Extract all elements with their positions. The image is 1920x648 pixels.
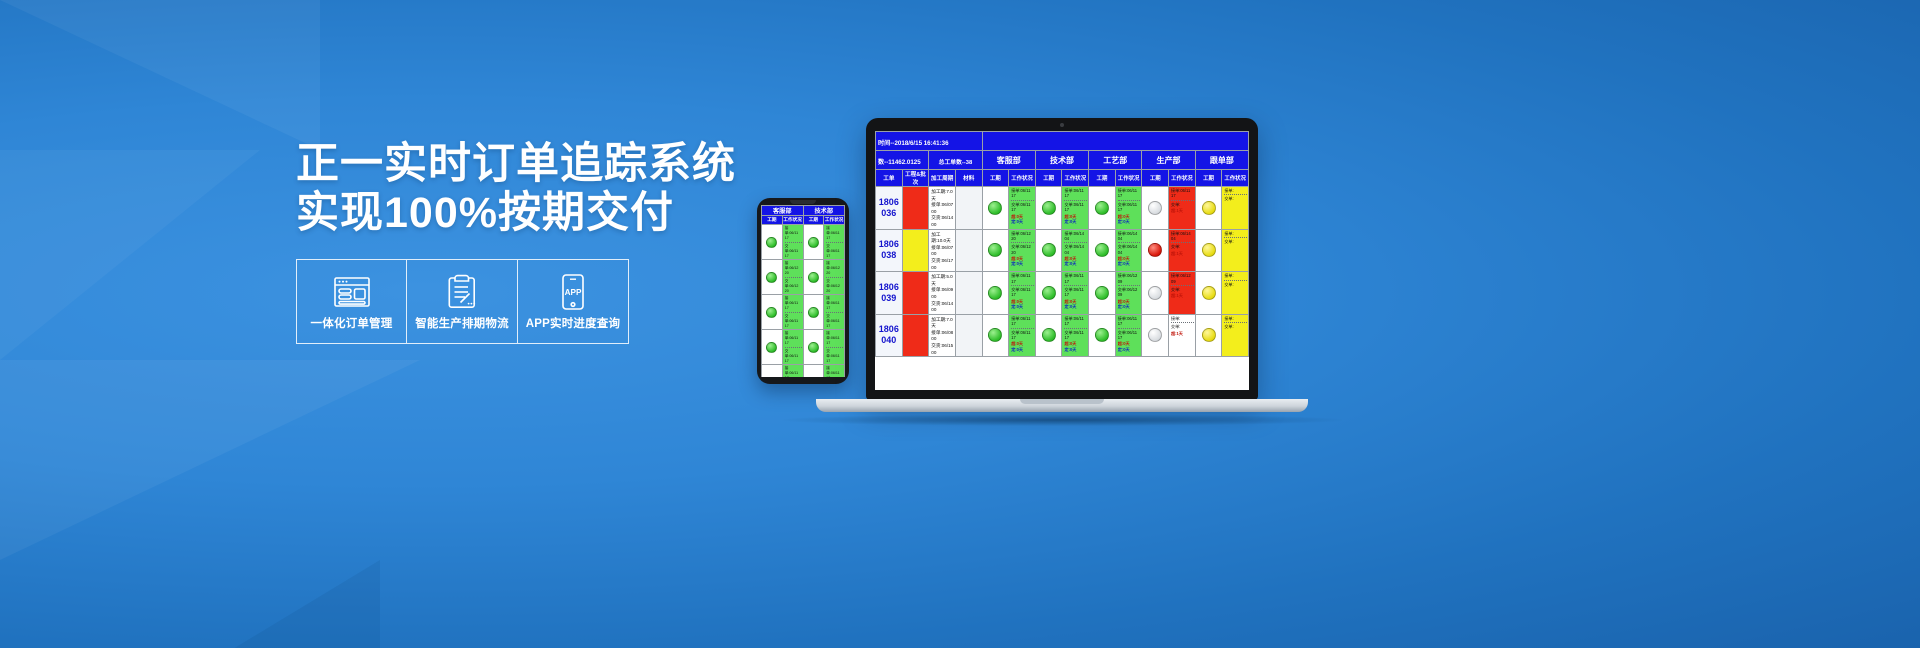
phone-lamp-cell-left[interactable]: [762, 225, 783, 260]
status-line-deliver: 交单:06/14 04: [1064, 244, 1087, 255]
phone-status-cell-right[interactable]: 接单:06/11 17交单:06/11 17: [824, 295, 845, 330]
status-line-deliver: 交单:06/11 17: [1064, 330, 1087, 341]
status-cell-跟单部[interactable]: 接单:交单:: [1222, 314, 1249, 357]
status-lamp-green: [988, 201, 1002, 215]
status-lines: 接单:06/11 17交单:06/11 17: [1116, 187, 1142, 213]
work-order-number: 1806040: [876, 314, 903, 357]
status-cell-生产部[interactable]: 接单:06/14 04交单:超:1天: [1169, 229, 1196, 272]
feature-label: 智能生产排期物流: [415, 315, 509, 331]
info-spacer: [982, 132, 1248, 151]
info-row-2: 数--11462.0125 总工单数--38 客服部 技术部 工艺部 生产部 跟…: [876, 151, 1249, 170]
lamp-cell-跟单部[interactable]: [1195, 187, 1222, 230]
lamp-cell-工艺部[interactable]: [1089, 314, 1116, 357]
status-tag-set: 定:0天: [1118, 304, 1140, 309]
dept-header-gongyi: 工艺部: [1089, 151, 1142, 170]
phone-status-line-receive: 接单:06/11 17: [826, 331, 843, 346]
lamp-cell-生产部[interactable]: [1142, 314, 1169, 357]
phone-status-lamp-green: [766, 307, 777, 318]
status-line-deliver: 交单:06/11 17: [1011, 287, 1034, 298]
lamp-cell-跟单部[interactable]: [1195, 272, 1222, 315]
lamp-cell-技术部[interactable]: [1035, 272, 1062, 315]
status-cell-工艺部[interactable]: 接单:06/11 17交单:06/11 17超:0天定:0天: [1115, 187, 1142, 230]
status-lamp-green: [1042, 286, 1056, 300]
phone-status-lines: 接单:06/12 20交单:06/12 20: [783, 260, 803, 294]
status-lamp-yellow: [1202, 243, 1216, 257]
phone-status-line-receive: 接单:06/12 20: [826, 261, 843, 276]
col-header-客服部-工期: 工期: [982, 170, 1009, 187]
bg-facet: [0, 360, 420, 560]
lamp-cell-工艺部[interactable]: [1089, 187, 1116, 230]
status-line-receive: 接单:: [1171, 316, 1194, 321]
col-header-技术部-工作状况: 工作状况: [1062, 170, 1089, 187]
lamp-cell-工艺部[interactable]: [1089, 272, 1116, 315]
phone-status-cell-right[interactable]: 接单:06/12 20交单:06/12 20: [824, 260, 845, 295]
col-header-3: 材料: [955, 170, 982, 187]
table-body[interactable]: 1806036 加工期:7.0天接单:06/07 00交货:06/14 00接单…: [876, 187, 1249, 357]
lamp-cell-技术部[interactable]: [1035, 187, 1062, 230]
status-line-deliver: 交单:06/11 17: [1064, 202, 1087, 213]
cycle-line-1: 接单:06/07 00: [931, 245, 955, 258]
phone-status-lamp-green: [808, 307, 819, 318]
wo-suffix: 038: [876, 250, 902, 261]
status-cell-客服部[interactable]: 接单:06/11 17交单:06/11 17超:0天定:0天: [1009, 314, 1036, 357]
table-row[interactable]: 1806038 加工期:10.0天接单:06/07 00交货:06/17 00接…: [876, 229, 1249, 272]
feature-item-app-tracking[interactable]: APP APP实时进度查询: [518, 259, 629, 344]
status-cell-客服部[interactable]: 接单:06/12 20交单:06/12 20超:0天定:0天: [1009, 229, 1036, 272]
status-cell-生产部[interactable]: 接单:06/11 17交单:超:1天: [1169, 187, 1196, 230]
status-lamp-white: [1148, 286, 1162, 300]
status-lines: 接单:06/11 17交单:06/11 17: [1116, 315, 1142, 341]
phone-status-lamp-green: [766, 342, 777, 353]
phone-screen[interactable]: 客服部 技术部 工期 工作状况 工期 工作状况 接单:06/11 17交单:06…: [761, 205, 845, 377]
order-tracking-table[interactable]: 时间--2018/6/15 16:41:36 数--11462.0125 总工单…: [875, 131, 1249, 357]
phone-status-cell-left[interactable]: 接单:06/11 17交单:06/11 17: [782, 225, 803, 260]
phone-table-row[interactable]: 接单:06/12 20交单:06/12 20接单:06/12 20交单:06/1…: [762, 260, 845, 295]
phone-dept-header: 技术部: [803, 206, 845, 216]
cycle-line-2: 交货:06/14 00: [931, 215, 955, 228]
feature-label: APP实时进度查询: [526, 315, 620, 331]
status-lines: 接单:06/11 17交单:06/11 17: [1062, 315, 1088, 341]
phone-status-lamp-green: [766, 237, 777, 248]
status-lines: 接单:06/11 17交单:: [1169, 187, 1195, 207]
banner-stage: 正一实时订单追踪系统 实现100%按期交付 一体化订单管理: [0, 0, 1920, 648]
status-tag-over: 超:1天: [1171, 293, 1193, 298]
phone-status-lamp-green: [808, 237, 819, 248]
status-lines: 接单:06/11 17交单:06/11 17: [1009, 187, 1035, 213]
status-line-receive: 接单:: [1224, 316, 1247, 321]
cycle-line-2: 交货:06/14 00: [931, 301, 955, 314]
status-tags: [1222, 244, 1248, 246]
status-tags: 超:1天: [1169, 207, 1195, 214]
wo-prefix: 1806: [876, 324, 902, 335]
phone-col-header: 工期: [803, 216, 824, 225]
table-head: 时间--2018/6/15 16:41:36 数--11462.0125 总工单…: [876, 132, 1249, 187]
phone-status-lines: 接单:06/11 17交单:06/11 17: [783, 225, 803, 259]
status-tag-set: 定:0天: [1064, 219, 1086, 224]
status-cell-生产部[interactable]: 接单:交单:超:1天: [1169, 314, 1196, 357]
feature-item-production-schedule[interactable]: 智能生产排期物流: [407, 259, 518, 344]
status-tags: 超:0天定:0天: [1009, 298, 1035, 310]
status-line-receive: 接单:06/11 17: [1064, 273, 1087, 284]
status-cell-客服部[interactable]: 接单:06/11 17交单:06/11 17超:0天定:0天: [1009, 272, 1036, 315]
feature-item-order-management[interactable]: 一体化订单管理: [296, 259, 407, 344]
status-lines: 接单:06/14 04交单:06/14 04: [1116, 230, 1142, 256]
phone-lamp-cell-left[interactable]: [762, 260, 783, 295]
status-tag-over: 超:1天: [1171, 331, 1193, 336]
status-tags: [1222, 202, 1248, 204]
status-line-deliver: 交单:06/12 09: [1118, 287, 1141, 298]
status-lines: 接单:06/12 20交单:06/12 20: [1009, 230, 1035, 256]
phone-col-header: 工期: [762, 216, 783, 225]
status-tag-set: 定:0天: [1064, 304, 1086, 309]
phone-status-lines: 接单:06/11 17交单:06/11 17: [783, 365, 803, 377]
status-lines: 接单:交单:: [1169, 315, 1195, 330]
phone-table-row[interactable]: 接单:06/11 17交单:06/11 17接单:06/11 17交单:06/1…: [762, 365, 845, 378]
status-line-deliver: 交单:06/11 17: [1064, 287, 1087, 298]
laptop-base: [816, 399, 1308, 412]
wo-prefix: 1806: [876, 282, 902, 293]
processing-cycle-cell: 加工期:7.0天接单:06/07 00交货:06/14 00: [929, 187, 956, 230]
status-tags: [1222, 287, 1248, 289]
status-lines: 接单:交单:: [1222, 272, 1248, 287]
status-lines: 接单:交单:: [1222, 187, 1248, 202]
phone-table-row[interactable]: 接单:06/11 17交单:06/11 17接单:06/11 17交单:06/1…: [762, 295, 845, 330]
phone-status-line-receive: 接单:06/11 17: [826, 366, 843, 377]
status-line-receive: 接单:: [1224, 231, 1247, 236]
status-lines: 接单:06/14 04交单:06/14 04: [1062, 230, 1088, 256]
phone-status-cell-left[interactable]: 接单:06/11 17交单:06/11 17: [782, 365, 803, 378]
wo-prefix: 1806: [876, 197, 902, 208]
status-cell-技术部[interactable]: 接单:06/11 17交单:06/11 17超:0天定:0天: [1062, 272, 1089, 315]
phone-status-line-deliver: 交单:06/11 17: [785, 244, 802, 259]
phone-status-line-deliver: 交单:06/11 17: [826, 244, 843, 259]
phone-status-cell-left[interactable]: 接单:06/11 17交单:06/11 17: [782, 330, 803, 365]
hero-copy: 正一实时订单追踪系统 实现100%按期交付: [296, 140, 716, 238]
phone-status-cell-left[interactable]: 接单:06/11 17交单:06/11 17: [782, 295, 803, 330]
status-cell-跟单部[interactable]: 接单:交单:: [1222, 272, 1249, 315]
status-line-receive: 接单:06/11 17: [1118, 188, 1141, 199]
wo-prefix: 1806: [876, 239, 902, 250]
phone-status-line-receive: 接单:06/11 17: [785, 331, 802, 346]
phone-status-lines: 接单:06/11 17交单:06/11 17: [824, 225, 844, 259]
lamp-cell-客服部[interactable]: [982, 272, 1009, 315]
phone-status-lines: 接单:06/11 17交单:06/11 17: [824, 365, 844, 377]
phone-lamp-cell-right[interactable]: [803, 330, 824, 365]
status-tag-over: 超:1天: [1171, 251, 1193, 256]
phone-order-table[interactable]: 客服部 技术部 工期 工作状况 工期 工作状况 接单:06/11 17交单:06…: [761, 205, 845, 377]
phone-status-cell-right[interactable]: 接单:06/11 17交单:06/11 17: [824, 365, 845, 378]
phone-col-header: 工作状况: [782, 216, 803, 225]
status-line-receive: 接单:06/11 17: [1064, 316, 1087, 327]
status-lamp-yellow: [1202, 201, 1216, 215]
phone-table-row[interactable]: 接单:06/11 17交单:06/11 17接单:06/11 17交单:06/1…: [762, 225, 845, 260]
status-tags: 超:0天定:0天: [1062, 340, 1088, 352]
phone-status-line-deliver: 交单:06/11 17: [826, 349, 843, 364]
status-cell-客服部[interactable]: 接单:06/11 17交单:06/11 17超:0天定:0天: [1009, 187, 1036, 230]
dept-header-shengchan: 生产部: [1142, 151, 1195, 170]
material-cell: [955, 314, 982, 357]
material-cell: [955, 272, 982, 315]
status-cell-工艺部[interactable]: 接单:06/12 09交单:06/12 09超:0天定:0天: [1115, 272, 1142, 315]
status-line-deliver: 交单:06/12 20: [1011, 244, 1034, 255]
phone-status-cell-left[interactable]: 接单:06/12 20交单:06/12 20: [782, 260, 803, 295]
phone-lamp-cell-right[interactable]: [803, 295, 824, 330]
phone-status-lamp-green: [808, 377, 819, 378]
status-tags: 超:0天定:0天: [1116, 298, 1142, 310]
dept-header-kefu: 客服部: [982, 151, 1035, 170]
phone-status-lines: 接单:06/11 17交单:06/11 17: [824, 330, 844, 364]
phone-dept-row: 客服部 技术部: [762, 206, 845, 216]
phone-column-row: 工期 工作状况 工期 工作状况: [762, 216, 845, 225]
phone-lamp-cell-left[interactable]: [762, 330, 783, 365]
status-lines: 接单:06/12 09交单:: [1169, 272, 1195, 292]
status-line-deliver: 交单:06/11 17: [1118, 202, 1141, 213]
feature-label: 一体化订单管理: [311, 315, 393, 331]
col-header-2: 加工周期: [929, 170, 956, 187]
status-tags: 超:0天定:0天: [1116, 213, 1142, 225]
phone-status-lamp-green: [766, 272, 777, 283]
status-lamp-green: [1095, 286, 1109, 300]
laptop-shadow: [782, 414, 1342, 426]
phone-status-line-deliver: 交单:06/11 17: [785, 349, 802, 364]
status-line-receive: 接单:06/14 04: [1171, 231, 1194, 242]
phone-lamp-cell-left[interactable]: [762, 295, 783, 330]
processing-cycle-cell: 加工期:10.0天接单:06/07 00交货:06/17 00: [929, 229, 956, 272]
col-header-工艺部-工作状况: 工作状况: [1115, 170, 1142, 187]
phone-table-head: 客服部 技术部 工期 工作状况 工期 工作状况: [762, 206, 845, 225]
status-line-receive: 接单:06/11 17: [1064, 188, 1087, 199]
phone-lamp-cell-left[interactable]: [762, 365, 783, 378]
status-line-deliver: 交单:06/14 04: [1118, 244, 1141, 255]
table-row[interactable]: 1806039 加工期:5.0天接单:06/09 00交货:06/14 00接单…: [876, 272, 1249, 315]
status-tag-set: 定:0天: [1118, 219, 1140, 224]
status-tags: 超:0天定:0天: [1116, 340, 1142, 352]
phone-status-line-deliver: 交单:06/11 17: [826, 314, 843, 329]
status-tag-set: 定:0天: [1064, 347, 1086, 352]
status-line-receive: 接单:06/11 17: [1118, 316, 1141, 327]
cycle-line-2: 交货:06/15 00: [931, 343, 955, 356]
status-tags: 超:0天定:0天: [1009, 340, 1035, 352]
status-lines: 接单:06/14 04交单:: [1169, 230, 1195, 250]
phone-status-line-deliver: 交单:06/11 17: [785, 314, 802, 329]
col-header-跟单部-工作状况: 工作状况: [1222, 170, 1249, 187]
col-header-工艺部-工期: 工期: [1089, 170, 1116, 187]
lamp-cell-生产部[interactable]: [1142, 187, 1169, 230]
lamp-cell-客服部[interactable]: [982, 187, 1009, 230]
status-lines: 接单:06/12 09交单:06/12 09: [1116, 272, 1142, 298]
phone-status-lines: 接单:06/12 20交单:06/12 20: [824, 260, 844, 294]
info-amount-text: 数--11462.0125: [878, 159, 921, 166]
status-cell-生产部[interactable]: 接单:06/12 09交单:超:1天: [1169, 272, 1196, 315]
cycle-line-0: 加工期:7.0天: [931, 317, 955, 330]
status-tag-over: 超:1天: [1171, 208, 1193, 213]
status-tag-set: 定:0天: [1011, 261, 1033, 266]
table-row[interactable]: 1806040 加工期:7.0天接单:06/08 00交货:06/15 00接单…: [876, 314, 1249, 357]
status-lamp-white: [1148, 328, 1162, 342]
status-lamp-green: [988, 328, 1002, 342]
status-tag-set: 定:0天: [1011, 219, 1033, 224]
phone-mockup: 客服部 技术部 工期 工作状况 工期 工作状况 接单:06/11 17交单:06…: [757, 198, 849, 384]
info-total: 总工单数--38: [929, 151, 982, 170]
col-header-生产部-工作状况: 工作状况: [1169, 170, 1196, 187]
material-cell: [955, 229, 982, 272]
status-tag-set: 定:0天: [1011, 304, 1033, 309]
status-lamp-red: [1148, 243, 1162, 257]
status-cell-技术部[interactable]: 接单:06/11 17交单:06/11 17超:0天定:0天: [1062, 187, 1089, 230]
status-lamp-green: [1042, 328, 1056, 342]
status-line-receive: 接单:06/12 09: [1171, 273, 1194, 284]
status-line-receive: 接单:06/11 17: [1011, 188, 1034, 199]
phone-status-line-deliver: 交单:06/12 20: [826, 279, 843, 294]
laptop-screen[interactable]: 时间--2018/6/15 16:41:36 数--11462.0125 总工单…: [875, 131, 1249, 390]
status-line-deliver: 交单:06/11 17: [1118, 330, 1141, 341]
work-order-number: 1806036: [876, 187, 903, 230]
phone-status-line-receive: 接单:06/11 17: [826, 296, 843, 311]
column-header-row: 工单工程&批次加工周期材料工期工作状况工期工作状况工期工作状况工期工作状况工期工…: [876, 170, 1249, 187]
status-tags: 超:1天: [1169, 330, 1195, 337]
cycle-line-0: 加工期:5.0天: [931, 274, 955, 287]
status-lamp-green: [1095, 201, 1109, 215]
status-lamp-green: [988, 243, 1002, 257]
status-tags: 超:1天: [1169, 250, 1195, 257]
lamp-cell-跟单部[interactable]: [1195, 229, 1222, 272]
status-line-receive: 接单:06/12 20: [1011, 231, 1034, 242]
status-lamp-green: [1095, 328, 1109, 342]
info-time-text: 时间--2018/6/15 16:41:36: [878, 140, 949, 147]
status-lamp-green: [1042, 201, 1056, 215]
project-batch-cell: [902, 272, 929, 315]
phone-lamp-cell-right[interactable]: [803, 260, 824, 295]
status-line-receive: 接单:06/11 17: [1011, 273, 1034, 284]
lamp-cell-技术部[interactable]: [1035, 314, 1062, 357]
phone-dept-header: 客服部: [762, 206, 804, 216]
status-tags: 超:0天定:0天: [1009, 255, 1035, 267]
lamp-cell-客服部[interactable]: [982, 229, 1009, 272]
dept-header-jishu: 技术部: [1035, 151, 1088, 170]
status-line-deliver: 交单:06/11 17: [1011, 202, 1034, 213]
bg-facet: [0, 0, 320, 150]
cycle-line-1: 接单:06/09 00: [931, 287, 955, 300]
lamp-cell-客服部[interactable]: [982, 314, 1009, 357]
work-order-number: 1806039: [876, 272, 903, 315]
status-line-receive: 接单:06/11 17: [1171, 188, 1194, 199]
status-lamp-green: [1095, 243, 1109, 257]
info-row: 时间--2018/6/15 16:41:36: [876, 132, 1249, 151]
status-line-receive: 接单:06/11 17: [1011, 316, 1034, 327]
table-row[interactable]: 1806036 加工期:7.0天接单:06/07 00交货:06/14 00接单…: [876, 187, 1249, 230]
wo-suffix: 039: [876, 293, 902, 304]
status-tag-set: 定:0天: [1118, 261, 1140, 266]
phone-status-line-receive: 接单:06/11 17: [785, 226, 802, 241]
status-lines: 接单:06/11 17交单:06/11 17: [1062, 187, 1088, 213]
status-tags: 超:1天: [1169, 292, 1195, 299]
wo-suffix: 036: [876, 208, 902, 219]
status-cell-工艺部[interactable]: 接单:06/11 17交单:06/11 17超:0天定:0天: [1115, 314, 1142, 357]
phone-status-cell-right[interactable]: 接单:06/11 17交单:06/11 17: [824, 225, 845, 260]
phone-table-row[interactable]: 接单:06/11 17交单:06/11 17接单:06/11 17交单:06/1…: [762, 330, 845, 365]
status-lamp-yellow: [1202, 328, 1216, 342]
status-tag-set: 定:0天: [1118, 347, 1140, 352]
bg-facet: [0, 150, 260, 360]
phone-status-lines: 接单:06/11 17交单:06/11 17: [783, 295, 803, 329]
processing-cycle-cell: 加工期:5.0天接单:06/09 00交货:06/14 00: [929, 272, 956, 315]
status-line-deliver: 交单:06/11 17: [1011, 330, 1034, 341]
cycle-line-1: 接单:06/07 00: [931, 202, 955, 215]
phone-status-cell-right[interactable]: 接单:06/11 17交单:06/11 17: [824, 330, 845, 365]
project-batch-cell: [902, 314, 929, 357]
status-lines: 接单:交单:: [1222, 315, 1248, 330]
lamp-cell-跟单部[interactable]: [1195, 314, 1222, 357]
material-cell: [955, 187, 982, 230]
phone-lamp-cell-right[interactable]: [803, 365, 824, 378]
project-batch-cell: [902, 187, 929, 230]
phone-table-body[interactable]: 接单:06/11 17交单:06/11 17接单:06/11 17交单:06/1…: [762, 225, 845, 378]
phone-status-lamp-green: [808, 342, 819, 353]
status-tags: 超:0天定:0天: [1062, 213, 1088, 225]
status-tags: [1222, 330, 1248, 332]
phone-status-line-receive: 接单:06/11 17: [785, 296, 802, 311]
status-cell-技术部[interactable]: 接单:06/11 17交单:06/11 17超:0天定:0天: [1062, 314, 1089, 357]
status-lines: 接单:06/11 17交单:06/11 17: [1062, 272, 1088, 298]
col-header-客服部-工作状况: 工作状况: [1009, 170, 1036, 187]
app-icon-text: APP: [565, 288, 582, 297]
wo-suffix: 040: [876, 335, 902, 346]
order-dashboard-icon: [333, 272, 371, 312]
info-time: 时间--2018/6/15 16:41:36: [876, 132, 983, 151]
status-lamp-white: [1148, 201, 1162, 215]
lamp-cell-生产部[interactable]: [1142, 229, 1169, 272]
status-cell-跟单部[interactable]: 接单:交单:: [1222, 187, 1249, 230]
headline-line-2: 实现100%按期交付: [296, 189, 716, 238]
bg-facet: [0, 560, 380, 648]
work-order-number: 1806038: [876, 229, 903, 272]
lamp-cell-技术部[interactable]: [1035, 229, 1062, 272]
phone-status-lines: 接单:06/11 17交单:06/11 17: [824, 295, 844, 329]
laptop-mockup: 时间--2018/6/15 16:41:36 数--11462.0125 总工单…: [866, 118, 1342, 426]
status-lines: 接单:06/11 17交单:06/11 17: [1009, 272, 1035, 298]
col-header-1: 工程&批次: [902, 170, 929, 187]
status-line-receive: 接单:06/14 04: [1064, 231, 1087, 242]
col-header-生产部-工期: 工期: [1142, 170, 1169, 187]
cycle-line-0: 加工期:10.0天: [931, 232, 955, 245]
status-line-receive: 接单:06/12 09: [1118, 273, 1141, 284]
status-cell-工艺部[interactable]: 接单:06/14 04交单:06/14 04超:0天定:0天: [1115, 229, 1142, 272]
lamp-cell-生产部[interactable]: [1142, 272, 1169, 315]
dept-header-gendan: 跟单部: [1195, 151, 1248, 170]
phone-status-line-receive: 接单:06/11 17: [826, 226, 843, 241]
phone-lamp-cell-right[interactable]: [803, 225, 824, 260]
feature-list: 一体化订单管理 智能生产排期物流: [296, 259, 629, 344]
lamp-cell-工艺部[interactable]: [1089, 229, 1116, 272]
status-lines: 接单:交单:: [1222, 230, 1248, 245]
status-tags: 超:0天定:0天: [1116, 255, 1142, 267]
info-total-text: 总工单数--38: [939, 160, 973, 166]
status-tags: 超:0天定:0天: [1009, 213, 1035, 225]
status-lamp-yellow: [1202, 286, 1216, 300]
phone-status-line-receive: 接单:06/12 20: [785, 261, 802, 276]
mobile-app-icon: APP: [559, 272, 587, 312]
phone-status-lamp-green: [808, 272, 819, 283]
status-tags: 超:0天定:0天: [1062, 255, 1088, 267]
status-cell-技术部[interactable]: 接单:06/14 04交单:06/14 04超:0天定:0天: [1062, 229, 1089, 272]
status-lamp-green: [1042, 243, 1056, 257]
status-line-receive: 接单:06/14 04: [1118, 231, 1141, 242]
laptop-lid: 时间--2018/6/15 16:41:36 数--11462.0125 总工单…: [866, 118, 1258, 400]
phone-shell: 客服部 技术部 工期 工作状况 工期 工作状况 接单:06/11 17交单:06…: [757, 198, 849, 384]
cycle-line-1: 接单:06/08 00: [931, 330, 955, 343]
project-batch-cell: [902, 229, 929, 272]
status-cell-跟单部[interactable]: 接单:交单:: [1222, 229, 1249, 272]
